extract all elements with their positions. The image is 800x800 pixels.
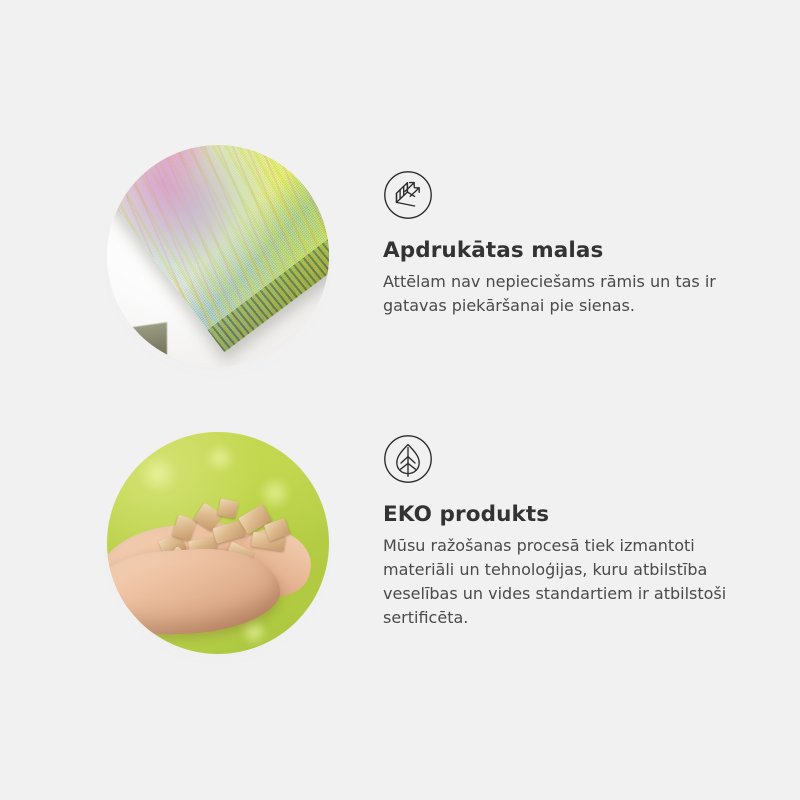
feature-title: Apdrukātas malas <box>383 238 743 264</box>
canvas-side-shadow <box>107 322 167 367</box>
canvas-front-face <box>107 145 329 352</box>
wrapped-canvas-edge-icon <box>383 170 433 220</box>
circular-image-mask <box>107 432 329 654</box>
feature-text-printed-edges: Apdrukātas malas Attēlam nav nepieciešam… <box>383 170 743 318</box>
product-features-panel: Apdrukātas malas Attēlam nav nepieciešam… <box>0 0 800 800</box>
feature-image-printed-edges <box>107 145 329 367</box>
feature-description: Attēlam nav nepieciešams rāmis un tas ir… <box>383 270 735 318</box>
bokeh-highlight <box>205 443 235 473</box>
feature-title: EKO produkts <box>383 502 743 528</box>
canvas-printed-edge <box>208 186 329 352</box>
feature-text-eco-product: EKO produkts Mūsu ražošanas procesā tiek… <box>383 434 743 630</box>
feature-image-eco-product <box>107 432 329 654</box>
feature-block-printed-edges: Apdrukātas malas Attēlam nav nepieciešam… <box>0 120 800 400</box>
hands-holding-wood-chips-photo <box>107 432 329 654</box>
feature-description: Mūsu ražošanas procesā tiek izmantoti ma… <box>383 534 735 630</box>
leaf-icon <box>383 434 433 484</box>
bokeh-highlight <box>138 454 178 494</box>
circular-image-mask <box>107 145 329 367</box>
feature-block-eco-product: EKO produkts Mūsu ražošanas procesā tiek… <box>0 415 800 695</box>
canvas-print-corner-photo <box>107 145 329 367</box>
